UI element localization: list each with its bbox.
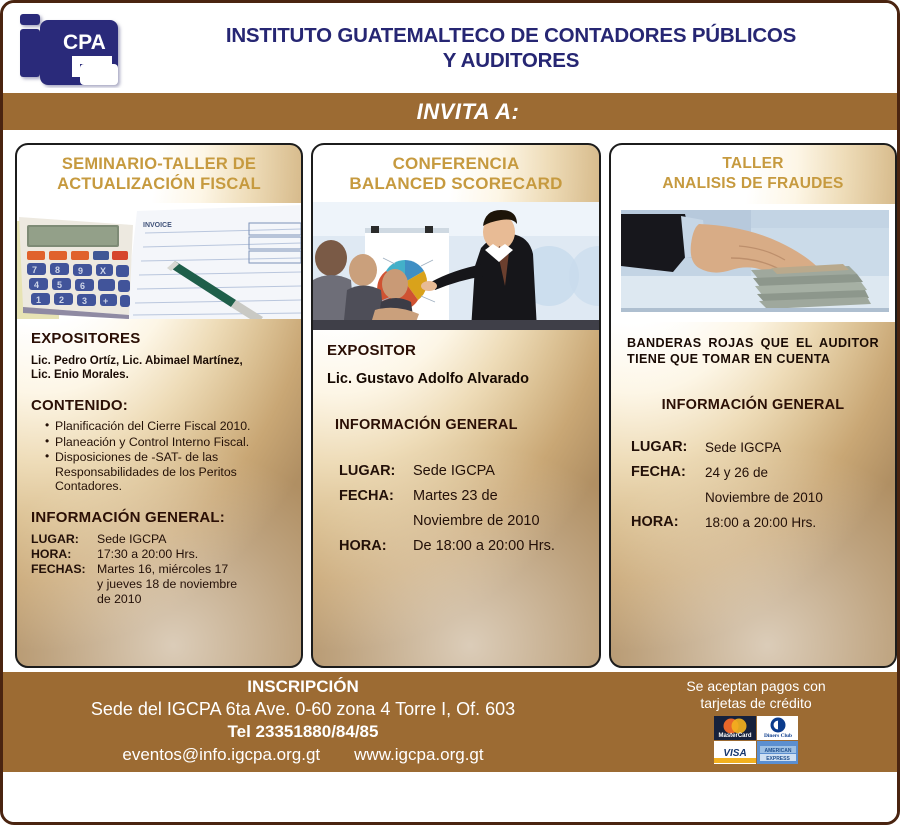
payment-note-line-1: Se aceptan pagos con xyxy=(615,678,897,695)
svg-text:VISA: VISA xyxy=(723,748,746,759)
table-row: FECHAS: Martes 16, miércoles 17 xyxy=(31,562,287,577)
svg-text:6: 6 xyxy=(80,281,85,291)
table-row: LUGAR: Sede IGCPA xyxy=(631,435,879,460)
card-3-title: TALLER ANALISIS DE FRAUDES xyxy=(611,145,895,200)
svg-text:MasterCard: MasterCard xyxy=(718,733,751,739)
card-2-fecha-value: Martes 23 de xyxy=(413,484,585,509)
card-3-body: BANDERAS ROJAS QUE EL AUDITOR TIENE QUE … xyxy=(611,336,895,535)
presentation-image xyxy=(313,202,599,330)
svg-text:AMERICAN: AMERICAN xyxy=(764,748,791,754)
invita-banner: INVITA A: xyxy=(3,93,897,130)
mastercard-logo: MasterCard xyxy=(714,716,756,740)
igcpa-logo: CPA xyxy=(17,10,137,88)
table-row: HORA: 18:00 a 20:00 Hrs. xyxy=(631,510,879,535)
footer-email-link[interactable]: eventos@info.igcpa.org.gt xyxy=(122,743,320,767)
table-row: FECHA: 24 y 26 de xyxy=(631,460,879,485)
footer-phone: Tel 23351880/84/85 xyxy=(3,721,603,743)
svg-text:X: X xyxy=(100,266,106,276)
card-3-hora-key: HORA: xyxy=(631,510,705,535)
org-title-line-2: Y AUDITORES xyxy=(137,48,885,73)
diners-club-logo: Diners Club xyxy=(757,716,799,740)
card-2-info-heading: INFORMACIÓN GENERAL xyxy=(327,417,585,433)
footer-link-gap xyxy=(320,743,354,767)
card-1-contenido-list: Planificación del Cierre Fiscal 2010. Pl… xyxy=(31,419,287,494)
inscripcion-label: INSCRIPCIÓN xyxy=(3,676,603,697)
card-1-fechas-cont-1: y jueves 18 de noviembre xyxy=(97,577,287,592)
table-row: LUGAR: Sede IGCPA xyxy=(31,532,287,547)
card-1-fechas-key: FECHAS: xyxy=(31,562,97,577)
card-1-lugar-value: Sede IGCPA xyxy=(97,532,287,547)
svg-text:5: 5 xyxy=(57,280,62,290)
visa-logo: VISA xyxy=(714,741,756,765)
card-2-expositor-name: Lic. Gustavo Adolfo Alvarado xyxy=(327,371,585,387)
card-3-title-line-2: ANALISIS DE FRAUDES xyxy=(619,174,887,194)
org-title-line-1: INSTITUTO GUATEMALTECO DE CONTADORES PÚB… xyxy=(137,23,885,48)
diners-club-logo-icon: Diners Club xyxy=(757,716,799,740)
payment-note-line-2: tarjetas de crédito xyxy=(615,695,897,712)
card-3-info-heading: INFORMACIÓN GENERAL xyxy=(627,397,879,413)
card-3-fecha-cont-1: Noviembre de 2010 xyxy=(705,485,879,510)
footer: INSCRIPCIÓN Sede del IGCPA 6ta Ave. 0-60… xyxy=(3,672,897,772)
card-3-info-table: LUGAR: Sede IGCPA FECHA: 24 y 26 de Novi… xyxy=(627,435,879,535)
card-3-title-line-1: TALLER xyxy=(619,154,887,174)
card-2-title: CONFERENCIA BALANCED SCORECARD xyxy=(313,145,599,200)
list-item: Planeación y Control Interno Fiscal. xyxy=(45,435,287,450)
svg-text:Diners Club: Diners Club xyxy=(763,733,791,739)
table-row: HORA: De 18:00 a 20:00 Hrs. xyxy=(339,534,585,559)
card-1-fechas-value: Martes 16, miércoles 17 xyxy=(97,562,287,577)
card-1-expositor-line-2: Lic. Enio Morales. xyxy=(31,368,287,382)
event-card-taller-analisis-de-fraudes[interactable]: TALLER ANALISIS DE FRAUDES xyxy=(609,143,897,668)
card-3-subtitle: BANDERAS ROJAS QUE EL AUDITOR TIENE QUE … xyxy=(627,336,879,367)
footer-website-link[interactable]: www.igcpa.org.gt xyxy=(354,743,483,767)
bottom-white-strip xyxy=(3,772,897,825)
visa-logo-icon: VISA xyxy=(714,741,756,765)
invita-label: INVITA A: xyxy=(417,99,520,125)
card-1-title-line-1: SEMINARIO-TALLER DE xyxy=(25,154,293,174)
card-2-lugar-key: LUGAR: xyxy=(339,459,413,484)
calculator-invoice-image: INVOICE xyxy=(17,203,301,319)
card-3-lugar-key: LUGAR: xyxy=(631,435,705,460)
card-1-title: SEMINARIO-TALLER DE ACTUALIZACIÓN FISCAL xyxy=(17,145,301,200)
footer-inscription-block: INSCRIPCIÓN Sede del IGCPA 6ta Ave. 0-60… xyxy=(3,672,603,767)
masthead: CPA INSTITUTO GUATEMALTECO DE CONTADORES… xyxy=(3,3,897,93)
svg-text:EXPRESS: EXPRESS xyxy=(766,756,790,762)
accepted-cards-logos: MasterCard Diners Club xyxy=(714,716,798,764)
poster-root: CPA INSTITUTO GUATEMALTECO DE CONTADORES… xyxy=(0,0,900,825)
svg-text:CPA: CPA xyxy=(63,31,106,54)
card-1-hora-key: HORA: xyxy=(31,547,97,562)
event-card-conferencia-balanced-scorecard[interactable]: CONFERENCIA BALANCED SCORECARD xyxy=(311,143,601,668)
card-2-fecha-cont-1: Noviembre de 2010 xyxy=(413,509,585,534)
svg-text:2: 2 xyxy=(59,295,64,305)
card-1-lugar-key: LUGAR: xyxy=(31,532,97,547)
payment-note: Se aceptan pagos con tarjetas de crédito xyxy=(615,678,897,712)
table-row: FECHA: Martes 23 de xyxy=(339,484,585,509)
card-1-info-table: LUGAR: Sede IGCPA HORA: 17:30 a 20:00 Hr… xyxy=(31,532,287,607)
event-card-seminario-taller[interactable]: SEMINARIO-TALLER DE ACTUALIZACIÓN FISCAL xyxy=(15,143,303,668)
card-1-contenido-heading: CONTENIDO: xyxy=(31,397,287,414)
event-cards-row: SEMINARIO-TALLER DE ACTUALIZACIÓN FISCAL xyxy=(3,136,897,668)
american-express-logo: AMERICAN EXPRESS xyxy=(757,741,799,765)
card-3-fecha-value: 24 y 26 de xyxy=(705,460,879,485)
footer-links: eventos@info.igcpa.org.gt www.igcpa.org.… xyxy=(3,743,603,767)
card-2-expositor-heading: EXPOSITOR xyxy=(327,342,585,359)
card-1-expositores-names: Lic. Pedro Ortíz, Lic. Abimael Martínez,… xyxy=(31,354,287,382)
american-express-logo-icon: AMERICAN EXPRESS xyxy=(757,741,799,765)
list-item: Disposiciones de -SAT- de las Responsabi… xyxy=(45,450,287,494)
svg-text:1: 1 xyxy=(36,295,41,305)
svg-text:3: 3 xyxy=(82,296,87,306)
card-2-lugar-value: Sede IGCPA xyxy=(413,459,585,484)
card-3-lugar-value: Sede IGCPA xyxy=(705,435,879,460)
organization-title: INSTITUTO GUATEMALTECO DE CONTADORES PÚB… xyxy=(137,23,897,73)
card-2-body: EXPOSITOR Lic. Gustavo Adolfo Alvarado I… xyxy=(313,342,599,559)
svg-text:8: 8 xyxy=(55,265,60,275)
card-2-title-line-2: BALANCED SCORECARD xyxy=(321,174,591,194)
table-row: LUGAR: Sede IGCPA xyxy=(339,459,585,484)
card-1-body: EXPOSITORES Lic. Pedro Ortíz, Lic. Abima… xyxy=(17,319,301,607)
footer-address: Sede del IGCPA 6ta Ave. 0-60 zona 4 Torr… xyxy=(3,697,603,721)
fraud-hand-image xyxy=(611,204,895,322)
card-1-expositor-line-1: Lic. Pedro Ortíz, Lic. Abimael Martínez, xyxy=(31,354,287,368)
hand-over-banknotes-photo xyxy=(611,204,895,322)
card-3-fecha-key: FECHA: xyxy=(631,460,705,485)
svg-text:+: + xyxy=(103,296,108,306)
svg-text:4: 4 xyxy=(34,280,39,290)
calculator-invoice-photo: INVOICE xyxy=(17,203,301,319)
mastercard-logo-icon: MasterCard xyxy=(714,716,756,740)
card-2-title-line-1: CONFERENCIA xyxy=(321,154,591,174)
card-3-hora-value: 18:00 a 20:00 Hrs. xyxy=(705,510,879,535)
list-item: Planificación del Cierre Fiscal 2010. xyxy=(45,419,287,434)
svg-text:INVOICE: INVOICE xyxy=(143,222,172,229)
card-2-hora-key: HORA: xyxy=(339,534,413,559)
card-1-hora-value: 17:30 a 20:00 Hrs. xyxy=(97,547,287,562)
card-2-fecha-key: FECHA: xyxy=(339,484,413,509)
card-2-info-table: LUGAR: Sede IGCPA FECHA: Martes 23 de No… xyxy=(327,459,585,559)
footer-payment-block: Se aceptan pagos con tarjetas de crédito… xyxy=(615,678,897,764)
svg-text:7: 7 xyxy=(32,265,37,275)
svg-text:9: 9 xyxy=(78,266,83,276)
table-row: HORA: 17:30 a 20:00 Hrs. xyxy=(31,547,287,562)
card-1-expositores-heading: EXPOSITORES xyxy=(31,330,287,347)
presentation-pie-chart-photo xyxy=(313,202,599,330)
card-2-hora-value: De 18:00 a 20:00 Hrs. xyxy=(413,534,585,559)
card-1-info-heading: INFORMACIÓN GENERAL: xyxy=(31,509,287,526)
card-1-title-line-2: ACTUALIZACIÓN FISCAL xyxy=(25,174,293,194)
igcpa-logo-icon: CPA xyxy=(17,10,137,88)
card-1-fechas-cont-2: de 2010 xyxy=(97,592,287,607)
